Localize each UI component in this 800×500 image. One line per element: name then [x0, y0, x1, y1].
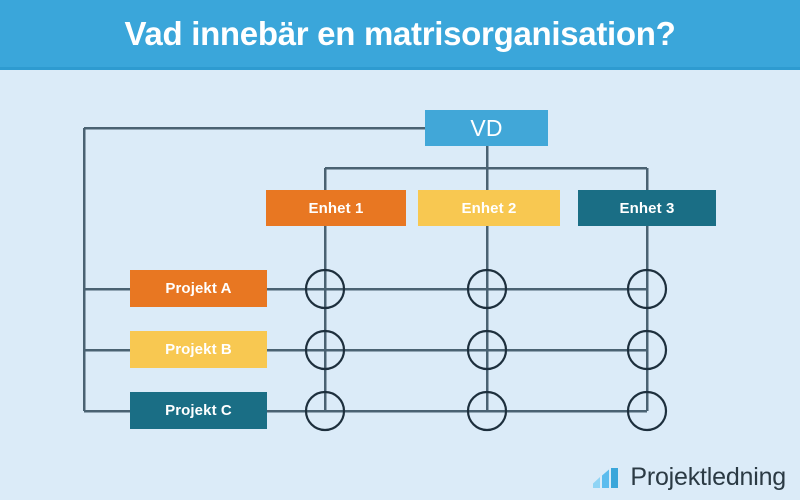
bar-chart-icon	[592, 466, 624, 490]
brand-logo[interactable]: Projektledning	[592, 465, 786, 490]
page-root: Vad innebär en matrisorganisation?	[0, 0, 800, 500]
node-projekt-c[interactable]: Projekt C	[130, 392, 267, 429]
matrix-organization-diagram: VD Enhet 1 Enhet 2 Enhet 3 Projekt A Pro…	[0, 70, 800, 500]
node-enhet-2[interactable]: Enhet 2	[418, 190, 560, 226]
header-banner: Vad innebär en matrisorganisation?	[0, 0, 800, 70]
node-enhet-1[interactable]: Enhet 1	[266, 190, 406, 226]
node-projekt-b[interactable]: Projekt B	[130, 331, 267, 368]
connector-lines	[0, 70, 800, 500]
brand-name: Projektledning	[630, 465, 786, 490]
node-vd[interactable]: VD	[425, 110, 548, 146]
page-title: Vad innebär en matrisorganisation?	[125, 17, 676, 50]
node-projekt-a[interactable]: Projekt A	[130, 270, 267, 307]
node-enhet-3[interactable]: Enhet 3	[578, 190, 716, 226]
